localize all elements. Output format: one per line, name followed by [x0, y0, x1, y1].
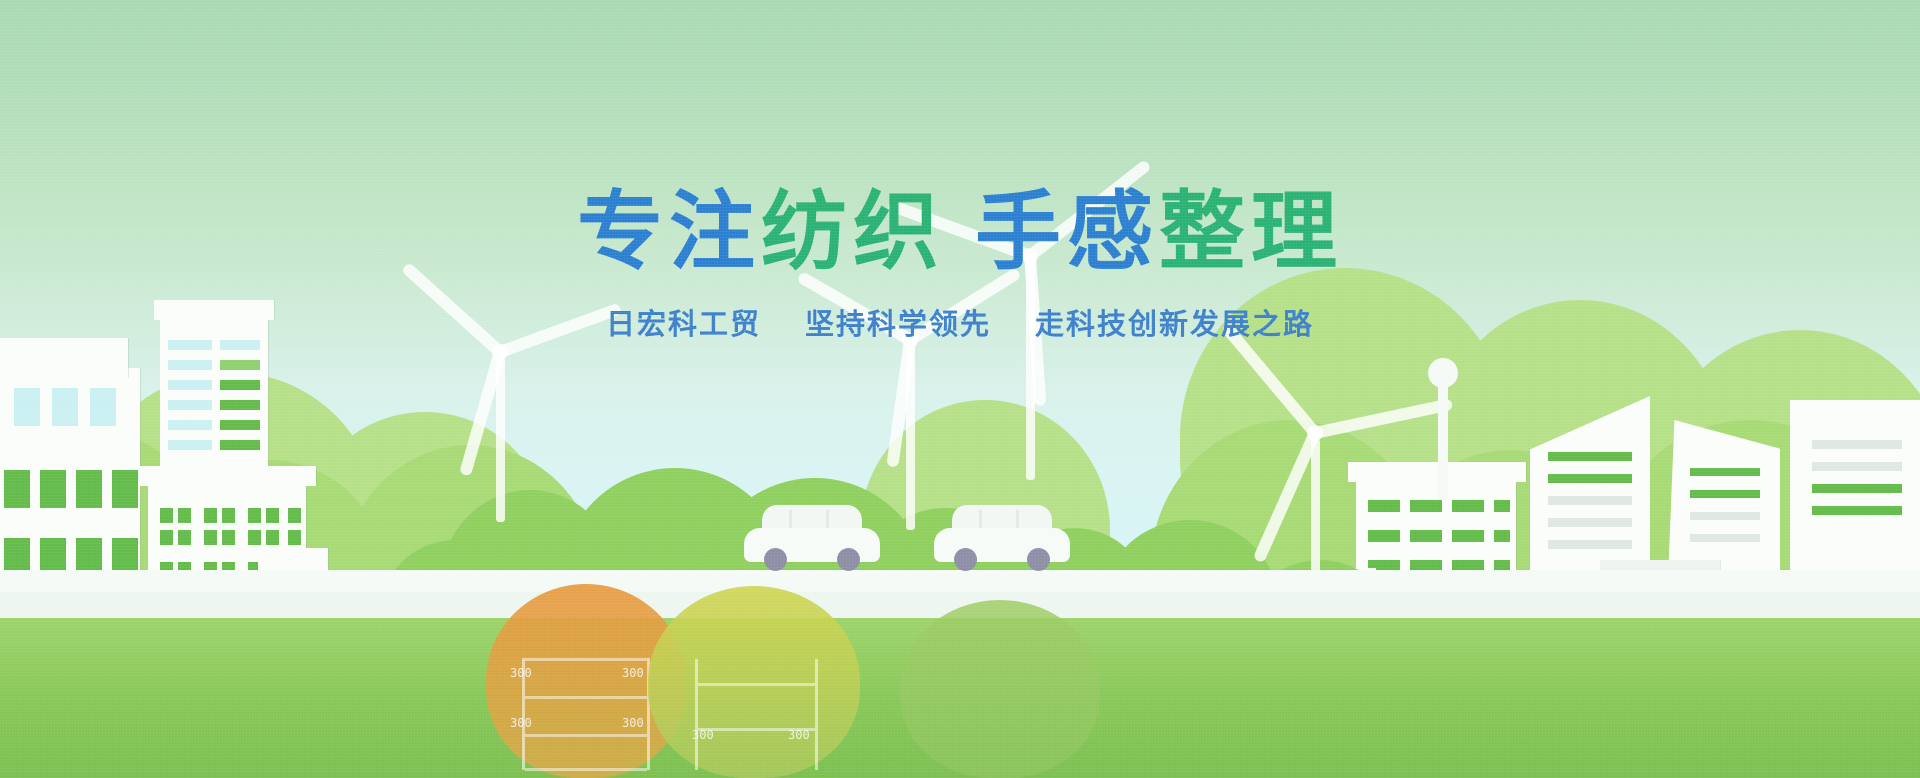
window-band: [220, 420, 260, 430]
subtitle-part-1: 日宏科工贸: [606, 309, 761, 341]
window: [288, 530, 301, 545]
window-band: [220, 400, 260, 410]
car-wheel: [954, 548, 977, 571]
beaker-mark-label: 300: [510, 716, 532, 730]
window: [204, 530, 217, 545]
window: [288, 508, 301, 523]
beaker-mark-label: 300: [510, 666, 532, 680]
window: [248, 530, 261, 545]
window: [14, 388, 40, 426]
headline-segment-1: 专注: [577, 184, 761, 280]
banner-subtitle: 日宏科工贸坚持科学领先走科技创新发展之路: [0, 301, 1920, 343]
window-band: [1812, 440, 1902, 449]
window-band: [220, 360, 260, 370]
window-band: [168, 420, 212, 430]
beaker-mark-label: 300: [622, 666, 644, 680]
beaker-green: [900, 600, 1100, 778]
car-wheel: [837, 548, 860, 571]
window: [178, 530, 191, 545]
subtitle-part-3: 走科技创新发展之路: [1035, 309, 1314, 341]
window-band: [1410, 530, 1442, 542]
window-band: [1548, 452, 1632, 461]
window-band: [168, 380, 212, 390]
window-band: [220, 440, 260, 450]
window-band: [220, 380, 260, 390]
window: [40, 470, 66, 508]
window: [76, 470, 102, 508]
window-band: [1812, 462, 1902, 471]
window: [90, 388, 116, 426]
window: [266, 508, 279, 523]
window-band: [1452, 500, 1484, 512]
window-band: [168, 400, 212, 410]
window: [160, 530, 173, 545]
window-band: [1410, 500, 1442, 512]
window-band: [1548, 496, 1632, 505]
window: [222, 508, 235, 523]
electric-car: [744, 505, 880, 571]
window-band: [1494, 530, 1510, 542]
window-band: [1812, 506, 1902, 515]
beaker-mark-label: 300: [788, 728, 810, 742]
headline-segment-2: 纺织: [761, 184, 945, 280]
subtitle-part-2: 坚持科学领先: [805, 309, 991, 341]
beaker-mark-label: 300: [692, 728, 714, 742]
window-band: [1548, 474, 1632, 483]
window-band: [168, 360, 212, 370]
building-roof: [140, 466, 316, 486]
beaker-yellow: 300 300: [648, 586, 860, 778]
window-band: [168, 440, 212, 450]
electric-car: [934, 505, 1070, 571]
window-band: [1690, 468, 1760, 476]
window: [248, 508, 261, 523]
window-band: [1812, 484, 1902, 493]
window-band: [1690, 534, 1760, 542]
antenna-mast: [1438, 370, 1448, 500]
window-band: [1494, 500, 1510, 512]
window: [178, 508, 191, 523]
beaker-graduations: [695, 659, 818, 770]
window: [112, 470, 138, 508]
window: [204, 508, 217, 523]
headline-segment-4: 整理: [1159, 184, 1343, 280]
road-surface: [0, 570, 1920, 592]
window-band: [1548, 540, 1632, 549]
car-wheel: [1027, 548, 1050, 571]
window-band: [1548, 518, 1632, 527]
window: [52, 388, 78, 426]
window: [4, 470, 30, 508]
window: [160, 508, 173, 523]
beaker-liquid: [900, 600, 1100, 778]
hero-banner: 300 300 300 300 300 300 专注纺织手感整理 日宏科工贸坚持…: [0, 0, 1920, 778]
antenna-ball: [1428, 358, 1458, 388]
banner-text-block: 专注纺织手感整理 日宏科工贸坚持科学领先走科技创新发展之路: [0, 186, 1920, 343]
window: [266, 530, 279, 545]
headline-segment-3: 手感: [975, 184, 1159, 280]
window-band: [1690, 512, 1760, 520]
window: [222, 530, 235, 545]
car-wheel: [764, 548, 787, 571]
window-band: [1690, 490, 1760, 498]
building-roof: [0, 338, 128, 378]
banner-headline: 专注纺织手感整理: [0, 186, 1920, 279]
beaker-mark-label: 300: [622, 716, 644, 730]
window-band: [1452, 530, 1484, 542]
